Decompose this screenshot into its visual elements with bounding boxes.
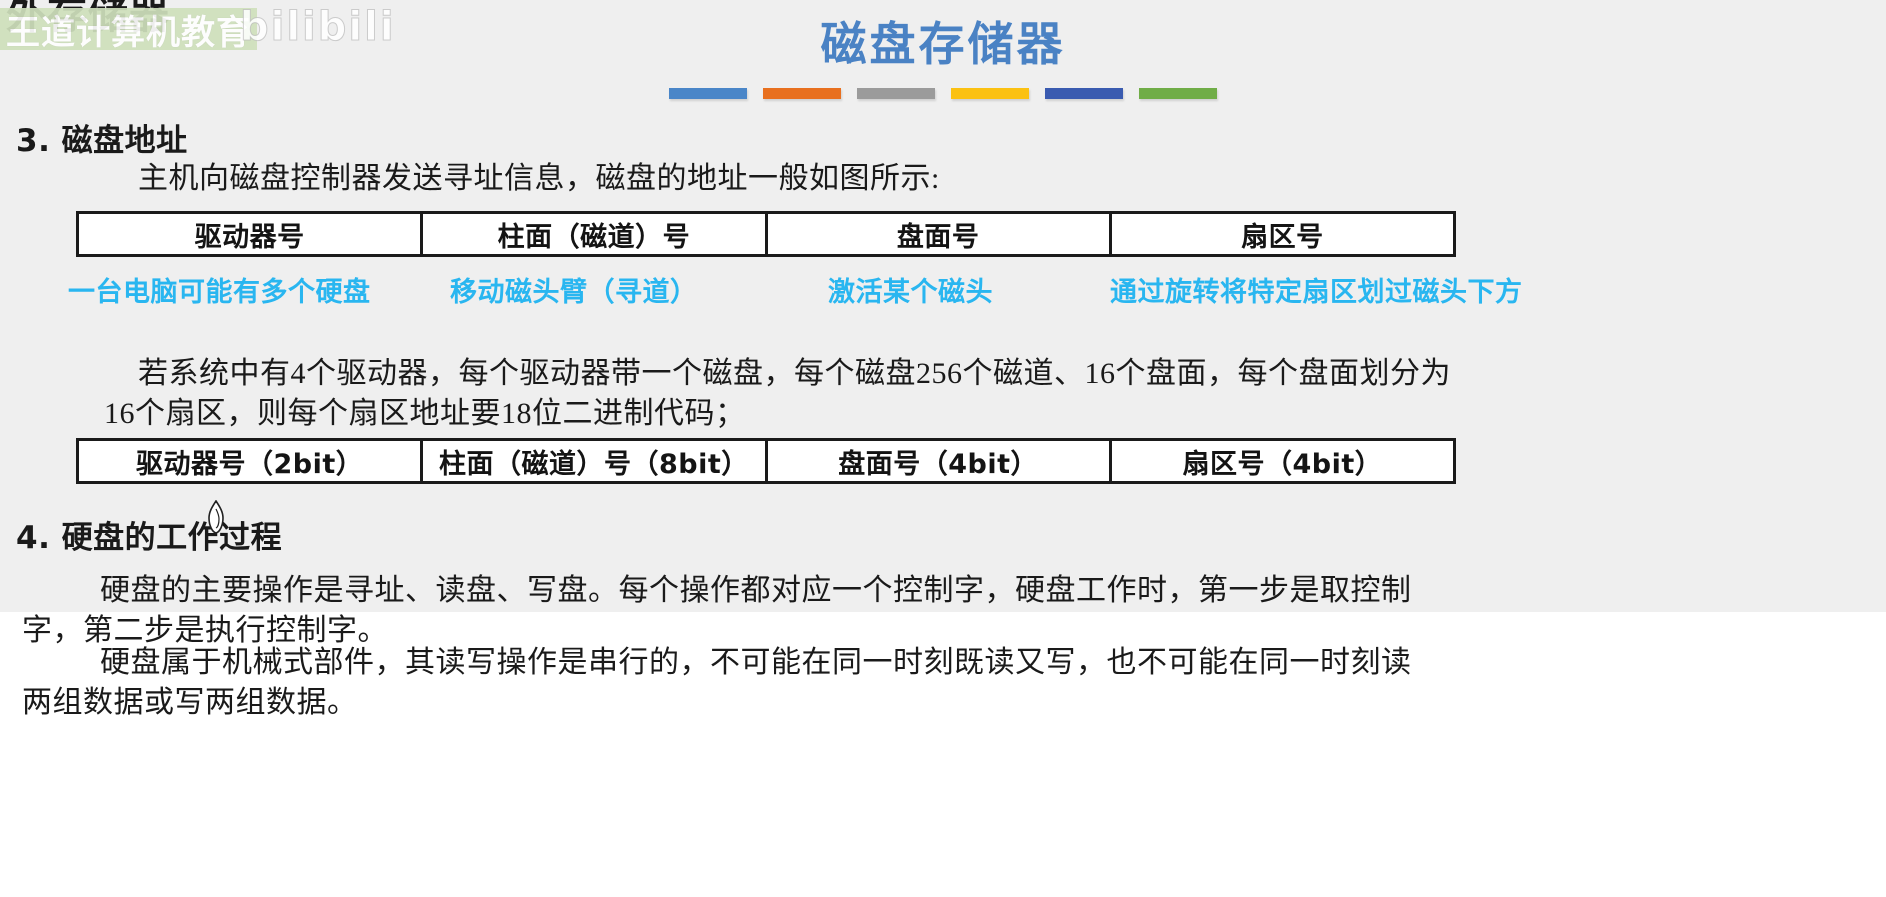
- pen-cursor-icon: [203, 500, 229, 534]
- table-cell-cylinder-number: 柱面（磁道）号: [423, 214, 767, 254]
- title-bar-1: [669, 88, 747, 99]
- disk-address-bit-width-table: 驱动器号（2bit） 柱面（磁道）号（8bit） 盘面号（4bit） 扇区号（4…: [76, 438, 1456, 484]
- annotation-cylinder-number: 移动磁头臂（寻道）: [450, 270, 698, 309]
- table-cell-sector-number: 扇区号: [1112, 214, 1453, 254]
- table-cell-platter-number: 盘面号: [768, 214, 1112, 254]
- annotation-sector-number: 通过旋转将特定扇区划过磁头下方: [1110, 270, 1523, 309]
- table-cell-drive-number: 驱动器号: [79, 214, 423, 254]
- title-bar-6: [1139, 88, 1217, 99]
- title-bar-4: [951, 88, 1029, 99]
- paragraph-mechanical-line1: 硬盘属于机械式部件，其读写操作是串行的，不可能在同一时刻既读又写，也不可能在同一…: [100, 637, 1412, 681]
- table-cell-sector-number-bits: 扇区号（4bit）: [1112, 441, 1453, 481]
- title-bar-2: [763, 88, 841, 99]
- table-cell-platter-number-bits: 盘面号（4bit）: [768, 441, 1112, 481]
- disk-address-format-table: 驱动器号 柱面（磁道）号 盘面号 扇区号: [76, 211, 1456, 257]
- title-decoration-bars: [0, 88, 1886, 99]
- paragraph-mechanical-line2: 两组数据或写两组数据。: [22, 677, 358, 721]
- table-cell-drive-number-bits: 驱动器号（2bit）: [79, 441, 423, 481]
- table-cell-cylinder-number-bits: 柱面（磁道）号（8bit）: [423, 441, 767, 481]
- paragraph-example-line2: 16个扇区，则每个扇区地址要18位二进制代码；: [104, 388, 746, 432]
- paragraph-operations-line1: 硬盘的主要操作是寻址、读盘、写盘。每个操作都对应一个控制字，硬盘工作时，第一步是…: [100, 565, 1412, 609]
- slide-canvas: 外存储器 王道计算机教育 bilibili 磁盘存储器 3. 磁盘地址 主机向磁…: [0, 0, 1886, 897]
- paragraph-example-line1: 若系统中有4个驱动器，每个驱动器带一个磁盘，每个磁盘256个磁道、16个盘面，每…: [138, 348, 1451, 392]
- annotation-platter-number: 激活某个磁头: [828, 270, 993, 309]
- section-heading-disk-workflow: 4. 硬盘的工作过程: [16, 512, 282, 557]
- title-bar-3: [857, 88, 935, 99]
- title-bar-5: [1045, 88, 1123, 99]
- page-title: 磁盘存储器: [0, 8, 1886, 74]
- annotation-drive-number: 一台电脑可能有多个硬盘: [68, 270, 371, 309]
- paragraph-address-intro: 主机向磁盘控制器发送寻址信息，磁盘的地址一般如图所示:: [138, 153, 940, 197]
